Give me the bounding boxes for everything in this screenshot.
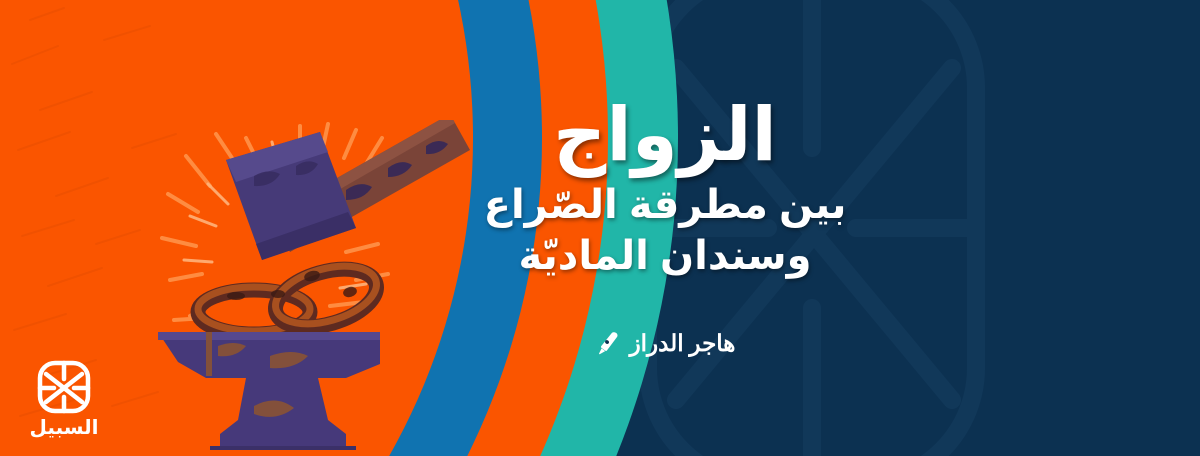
article-banner: السبيل الزواج بين مطرقة الصّراع وسندان ا… [0,0,1200,456]
brand-name: السبيل [18,418,110,438]
path-crossroads-icon [35,358,93,416]
author-byline: هاجر الدراز [405,330,925,356]
hammer-head [226,132,356,260]
brand-logo[interactable]: السبيل [18,358,110,438]
article-subtitle: بين مطرقة الصّراع وسندان الماديّة [405,180,925,282]
article-title: الزواج [405,96,925,174]
author-name: هاجر الدراز [630,332,736,355]
anvil [158,332,380,450]
subtitle-line-1: بين مطرقة الصّراع [405,180,925,231]
subtitle-line-2: وسندان الماديّة [405,231,925,282]
pen-nib-icon [595,330,621,356]
headline-block: الزواج بين مطرقة الصّراع وسندان الماديّة… [405,96,925,356]
wedding-rings [198,256,383,338]
